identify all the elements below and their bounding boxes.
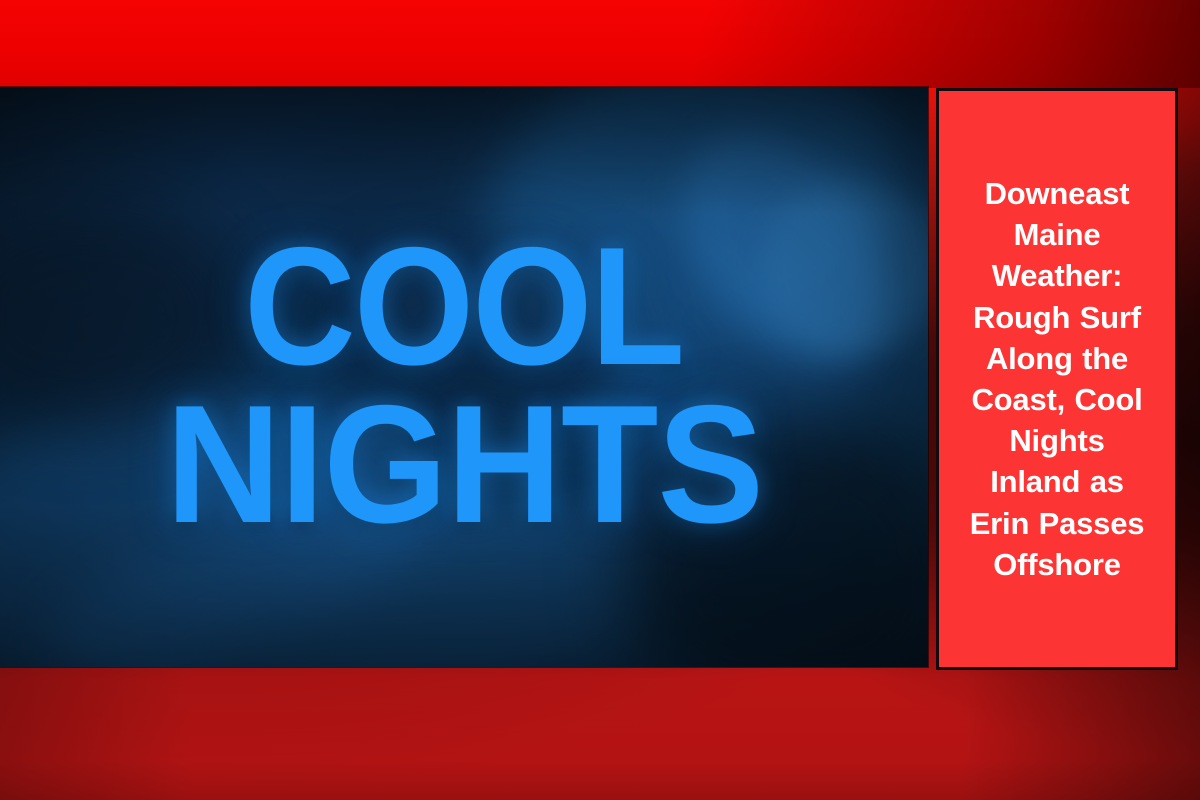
article-headline-text: DowneastMaineWeather:Rough SurfAlong the… xyxy=(962,173,1153,585)
top-band-shadow-tint xyxy=(0,0,1200,88)
poster-canvas: COOL NIGHTS DowneastMaineWeather:Rough S… xyxy=(0,0,1200,800)
top-red-band xyxy=(0,0,1200,88)
overlay-title-line-2: NIGHTS xyxy=(165,386,762,544)
article-headline-panel: DowneastMaineWeather:Rough SurfAlong the… xyxy=(936,88,1178,670)
photo-overlay-title: COOL NIGHTS xyxy=(0,87,928,667)
overlay-title-line-1: COOL xyxy=(244,228,683,386)
